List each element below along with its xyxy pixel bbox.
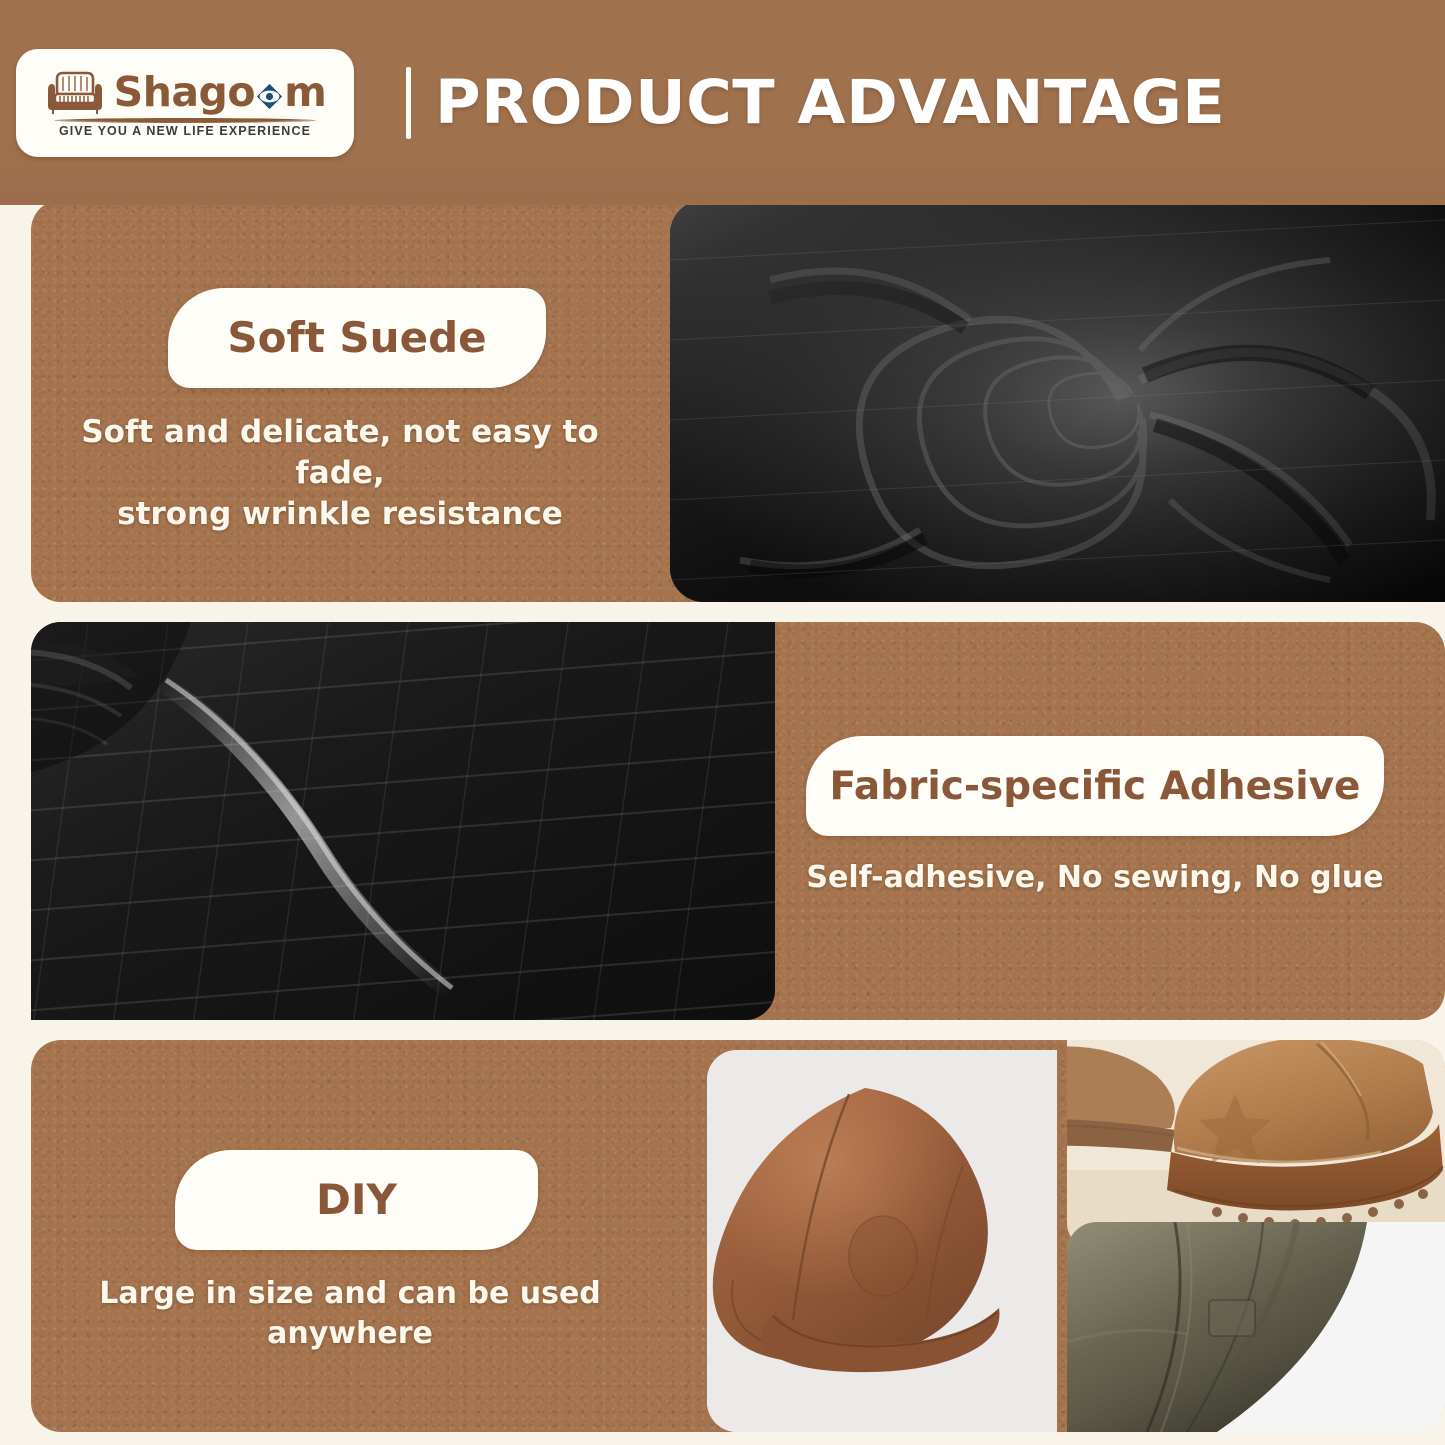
soft-suede-photo (670, 200, 1445, 602)
feature-label-adhesive: Fabric-specific Adhesive (830, 767, 1361, 806)
product-advantage-infographic: Shagom GIVE YOU A NEW LIFE EXPERIENCE PR… (0, 0, 1445, 1445)
brand-logo-row: Shagom (44, 70, 327, 116)
vertical-divider-icon (406, 67, 411, 139)
feature-label-pill-adhesive: Fabric-specific Adhesive (806, 736, 1384, 836)
adhesive-photo (31, 622, 775, 1020)
feature-label-soft-suede: Soft Suede (227, 317, 486, 359)
feature-label-pill-soft-suede: Soft Suede (168, 288, 546, 388)
page-title: PRODUCT ADVANTAGE (435, 67, 1225, 138)
feature-description-soft-suede: Soft and delicate, not easy to fade, str… (40, 412, 640, 535)
brand-name-text: Shago (114, 72, 255, 113)
eye-diamond-icon (256, 83, 283, 110)
feature-label-diy: DIY (316, 1179, 397, 1221)
brand-wordmark: Shagom (114, 72, 327, 113)
diy-photo-boot (1067, 1040, 1445, 1252)
description-line-2: strong wrinkle resistance (40, 494, 640, 535)
brown-suede-flat-cap-image (707, 1050, 1057, 1432)
brand-tagline: GIVE YOU A NEW LIFE EXPERIENCE (59, 124, 311, 138)
header-banner: Shagom GIVE YOU A NEW LIFE EXPERIENCE PR… (0, 0, 1445, 205)
black-velvet-adhesive-closeup-image (31, 622, 775, 1020)
brand-logo: Shagom GIVE YOU A NEW LIFE EXPERIENCE (16, 49, 354, 157)
olive-suede-jacket-sleeve-image (1067, 1222, 1445, 1432)
logo-underline-swoosh (54, 118, 316, 123)
diy-photo-flat-cap (707, 1050, 1057, 1432)
sofa-icon (44, 70, 106, 116)
feature-label-pill-diy: DIY (175, 1150, 538, 1250)
black-suede-fabric-swirl-image (670, 200, 1445, 602)
feature-description-diy: Large in size and can be used anywhere (30, 1274, 670, 1353)
tan-suede-platform-boot-image (1067, 1040, 1445, 1252)
brand-name-text: m (284, 72, 326, 113)
description-line-1: Soft and delicate, not easy to fade, (40, 412, 640, 494)
diy-photo-jacket (1067, 1222, 1445, 1432)
feature-description-adhesive: Self-adhesive, No sewing, No glue (790, 858, 1400, 898)
